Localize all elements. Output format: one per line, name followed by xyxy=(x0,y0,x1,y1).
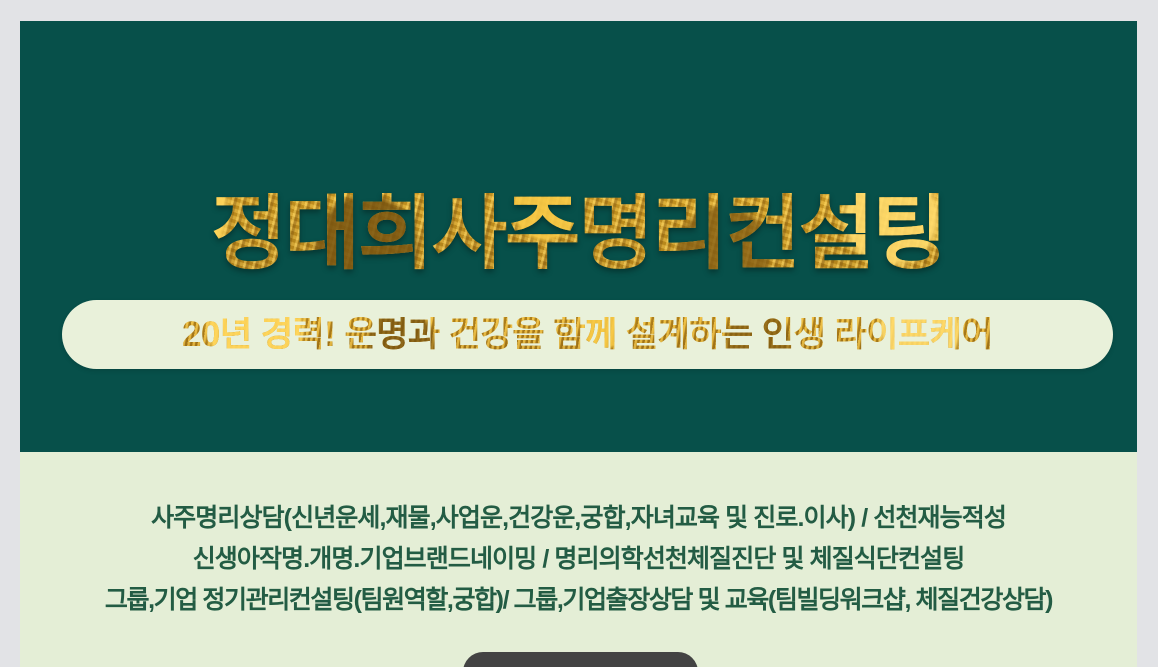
service-line: 신생아작명.개명.기업브랜드네이밍 / 명리의학선천체질진단 및 체질식단컨설팅 xyxy=(20,539,1137,580)
content-panel: 정대희사주명리컨설팅 20년 경력! 운명과 건강을 함께 설계하는 인생 라이… xyxy=(20,21,1137,667)
services-list: 사주명리상담(신년운세,재물,사업운,건강운,궁합,자녀교육 및 진로.이사) … xyxy=(20,498,1137,621)
subtitle-pill-label: 20년 경력! 운명과 건강을 함께 설계하는 인생 라이프케어 xyxy=(182,317,993,352)
service-line: 사주명리상담(신년운세,재물,사업운,건강운,궁합,자녀교육 및 진로.이사) … xyxy=(20,498,1137,539)
subtitle-pill: 20년 경력! 운명과 건강을 함께 설계하는 인생 라이프케어 xyxy=(62,300,1113,369)
services-section: 사주명리상담(신년운세,재물,사업운,건강운,궁합,자녀교육 및 진로.이사) … xyxy=(20,452,1137,667)
bottom-action-button[interactable] xyxy=(463,652,698,667)
page-title: 정대희사주명리컨설팅 xyxy=(20,193,1137,275)
hero-banner: 정대희사주명리컨설팅 20년 경력! 운명과 건강을 함께 설계하는 인생 라이… xyxy=(20,21,1137,452)
service-line: 그룹,기업 정기관리컨설팅(팀원역할,궁합)/ 그룹,기업출장상담 및 교육(팀… xyxy=(20,580,1137,621)
